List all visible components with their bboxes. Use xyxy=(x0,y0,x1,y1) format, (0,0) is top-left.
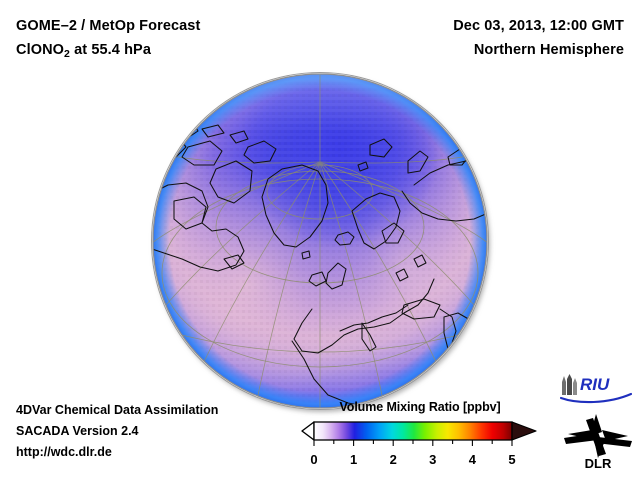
header-right-block: Dec 03, 2013, 12:00 GMT Northern Hemisph… xyxy=(453,14,624,62)
title-instrument: GOME–2 / MetOp Forecast xyxy=(16,14,200,38)
dlr-pinwheel-icon xyxy=(564,414,632,458)
colorbar-ramp xyxy=(314,422,512,440)
colorbar-tick-0: 0 xyxy=(310,452,317,467)
colorbar-tick-3: 3 xyxy=(429,452,436,467)
colorbar-title: Volume Mixing Ratio [ppbv] xyxy=(300,400,540,414)
riu-swoosh-icon xyxy=(561,394,631,402)
riu-towers-icon xyxy=(562,374,577,395)
dlr-wordmark: DLR xyxy=(585,456,612,470)
footer-credits: 4DVar Chemical Data Assimilation SACADA … xyxy=(16,400,218,463)
colorbar-tick-1: 1 xyxy=(350,452,357,467)
title-species-level: ClONO2 at 55.4 hPa xyxy=(16,38,200,66)
timestamp-label: Dec 03, 2013, 12:00 GMT xyxy=(453,14,624,38)
dlr-logo: DLR xyxy=(562,410,634,470)
colorbar-under-arrow xyxy=(302,422,314,440)
colorbar: Volume Mixing Ratio [ppbv] xyxy=(300,400,540,470)
colorbar-over-arrow xyxy=(512,422,536,440)
credit-method: 4DVar Chemical Data Assimilation xyxy=(16,400,218,421)
colorbar-tick-labels: 0 1 2 3 4 5 xyxy=(300,452,540,470)
species-name: ClONO xyxy=(16,42,64,58)
hemisphere-label: Northern Hemisphere xyxy=(453,38,624,62)
riu-wordmark: RIU xyxy=(580,375,610,394)
colorbar-tick-5: 5 xyxy=(508,452,515,467)
colorbar-tick-2: 2 xyxy=(390,452,397,467)
credit-url[interactable]: http://wdc.dlr.de xyxy=(16,442,218,463)
colorbar-tick-4: 4 xyxy=(469,452,476,467)
coastline-chukotka xyxy=(468,119,488,135)
credit-version: SACADA Version 2.4 xyxy=(16,421,218,442)
colorbar-ticks xyxy=(314,440,512,446)
globe-map xyxy=(152,73,488,409)
globe-svg xyxy=(152,73,488,409)
header-left-block: GOME–2 / MetOp Forecast ClONO2 at 55.4 h… xyxy=(16,14,200,66)
level-text: at 55.4 hPa xyxy=(70,42,151,58)
colorbar-graphic xyxy=(300,420,540,446)
riu-logo: RIU xyxy=(558,373,634,405)
